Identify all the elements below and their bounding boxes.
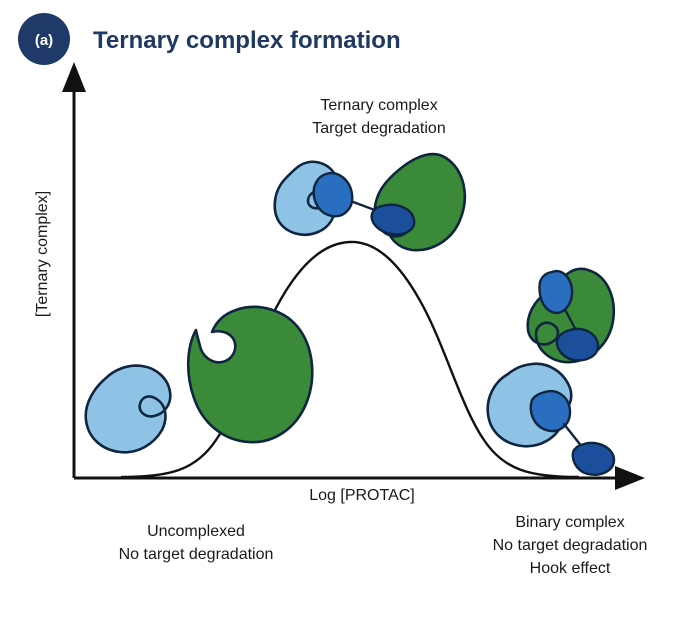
x-axis-label: Log [PROTAC]	[309, 487, 415, 504]
target-protein-blob-left	[188, 307, 312, 442]
annotation-bottom-left: Uncomplexed No target degradation	[119, 523, 274, 563]
figure-panel-a: (a) Ternary complex formation [Ternary c…	[0, 0, 673, 627]
annotation-top-center-line2: Target degradation	[312, 120, 445, 137]
diagram-canvas: (a) Ternary complex formation [Ternary c…	[0, 0, 673, 627]
annotation-bottom-right-line1: Binary complex	[515, 514, 624, 531]
annotation-bottom-right-line2: No target degradation	[493, 537, 648, 554]
annotation-bottom-left-line2: No target degradation	[119, 546, 274, 563]
up-arrow-icon	[62, 62, 86, 92]
annotation-bottom-right-line3: Hook effect	[530, 560, 611, 577]
right-arrow-icon	[615, 466, 645, 490]
protac-warhead-target-center	[372, 205, 415, 235]
uncomplexed-group	[86, 307, 313, 452]
annotation-bottom-right: Binary complex No target degradation Hoo…	[493, 514, 648, 577]
protac-warhead-free-upper-right	[540, 271, 573, 313]
protac-warhead-free-lower-right	[573, 443, 614, 475]
binary-complex-group	[488, 269, 614, 475]
annotation-top-center: Ternary complex Target degradation	[312, 97, 445, 137]
annotation-bottom-left-line1: Uncomplexed	[147, 523, 245, 540]
ternary-complex-group	[275, 154, 465, 250]
e3-ligase-blob-left	[86, 366, 171, 453]
y-axis-label: [Ternary complex]	[34, 191, 51, 317]
protac-warhead-e3-center	[314, 173, 353, 216]
target-protein-blob-center	[375, 154, 465, 250]
panel-badge: (a)	[18, 13, 70, 65]
annotation-top-center-line1: Ternary complex	[320, 97, 437, 114]
panel-badge-label: (a)	[35, 32, 53, 49]
page-title: Ternary complex formation	[93, 27, 401, 54]
protac-warhead-target-right	[557, 329, 598, 360]
